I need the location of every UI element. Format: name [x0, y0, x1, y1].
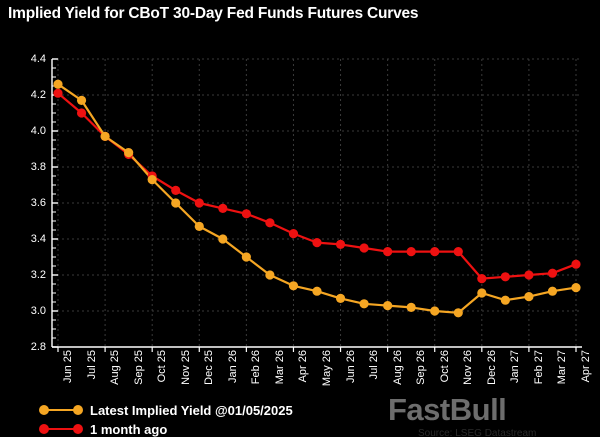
data-point	[407, 303, 416, 312]
data-point	[312, 287, 321, 296]
data-point	[336, 294, 345, 303]
data-point	[242, 209, 251, 218]
data-point	[383, 247, 392, 256]
legend-marker-icon	[38, 403, 84, 417]
data-point	[501, 296, 510, 305]
x-tick-label: Jul 25	[86, 350, 98, 379]
x-tick-label: Jan 27	[509, 350, 521, 383]
data-point	[195, 222, 204, 231]
data-point	[77, 96, 86, 105]
data-point	[312, 238, 321, 247]
legend-item[interactable]: Latest Implied Yield @01/05/2025	[38, 402, 293, 418]
data-point	[430, 306, 439, 315]
x-tick-label: Mar 27	[556, 350, 568, 384]
data-point	[571, 283, 580, 292]
chart-plot-svg	[52, 59, 582, 347]
data-point	[195, 198, 204, 207]
x-tick-label: Dec 25	[203, 350, 215, 385]
y-tick-label: 3.6	[31, 197, 46, 209]
x-tick-label: Mar 26	[274, 350, 286, 384]
data-point	[454, 308, 463, 317]
legend-label: 1 month ago	[90, 422, 167, 437]
data-point	[524, 270, 533, 279]
data-point	[383, 301, 392, 310]
source-note: Source: LSEG Datastream	[418, 428, 536, 437]
series-line-month-ago	[58, 93, 576, 278]
x-tick-label: Sep 25	[133, 350, 145, 385]
x-tick-label: Sep 26	[415, 350, 427, 385]
plot-area	[52, 59, 582, 347]
x-tick-label: Aug 26	[392, 350, 404, 385]
y-tick-label: 3.0	[31, 305, 46, 317]
x-tick-label: Dec 26	[486, 350, 498, 385]
data-point	[548, 269, 557, 278]
data-point	[265, 270, 274, 279]
x-tick-label: May 26	[321, 350, 333, 386]
x-tick-label: Feb 26	[250, 350, 262, 384]
x-tick-label: Oct 25	[156, 350, 168, 382]
y-tick-label: 3.2	[31, 269, 46, 281]
data-point	[242, 252, 251, 261]
data-point	[53, 89, 62, 98]
data-point	[100, 132, 109, 141]
legend-label: Latest Implied Yield @01/05/2025	[90, 403, 293, 418]
data-point	[359, 243, 368, 252]
x-tick-label: Jun 25	[62, 350, 74, 383]
y-tick-label: 3.4	[31, 233, 46, 245]
x-tick-label: Feb 27	[533, 350, 545, 384]
data-point	[171, 186, 180, 195]
data-point	[289, 229, 298, 238]
data-point	[548, 287, 557, 296]
data-point	[524, 292, 533, 301]
x-tick-label: Jul 26	[368, 350, 380, 379]
x-tick-label: Nov 25	[180, 350, 192, 385]
data-point	[454, 247, 463, 256]
y-tick-label: 2.8	[31, 341, 46, 353]
data-point	[477, 274, 486, 283]
y-tick-label: 4.0	[31, 125, 46, 137]
x-axis-tick-labels: Jun 25Jul 25Aug 25Sep 25Oct 25Nov 25Dec …	[52, 350, 582, 410]
data-point	[124, 148, 133, 157]
data-point	[571, 260, 580, 269]
x-tick-label: Oct 26	[439, 350, 451, 382]
chart-container: Implied Yield for CBoT 30-Day Fed Funds …	[0, 0, 600, 437]
data-point	[501, 272, 510, 281]
data-point	[218, 204, 227, 213]
y-axis-tick-labels: 2.83.03.23.43.63.84.04.24.4	[0, 59, 46, 347]
x-tick-label: Jan 26	[227, 350, 239, 383]
legend-marker-icon	[38, 422, 84, 436]
x-tick-label: Apr 26	[297, 350, 309, 382]
data-point	[430, 247, 439, 256]
x-tick-label: Aug 25	[109, 350, 121, 385]
data-point	[477, 288, 486, 297]
y-tick-label: 4.4	[31, 53, 46, 65]
data-point	[359, 299, 368, 308]
series-line-latest	[58, 84, 576, 313]
data-point	[289, 281, 298, 290]
chart-title: Implied Yield for CBoT 30-Day Fed Funds …	[8, 5, 418, 23]
data-point	[148, 175, 157, 184]
data-point	[77, 108, 86, 117]
chart-legend: Latest Implied Yield @01/05/20251 month …	[38, 402, 293, 437]
x-tick-label: Apr 27	[580, 350, 592, 382]
y-tick-label: 4.2	[31, 89, 46, 101]
legend-item[interactable]: 1 month ago	[38, 421, 293, 437]
data-point	[218, 234, 227, 243]
x-tick-label: Nov 26	[462, 350, 474, 385]
data-point	[407, 247, 416, 256]
y-tick-label: 3.8	[31, 161, 46, 173]
data-point	[53, 80, 62, 89]
data-point	[171, 198, 180, 207]
data-point	[336, 240, 345, 249]
x-tick-label: Jun 26	[345, 350, 357, 383]
data-point	[265, 218, 274, 227]
